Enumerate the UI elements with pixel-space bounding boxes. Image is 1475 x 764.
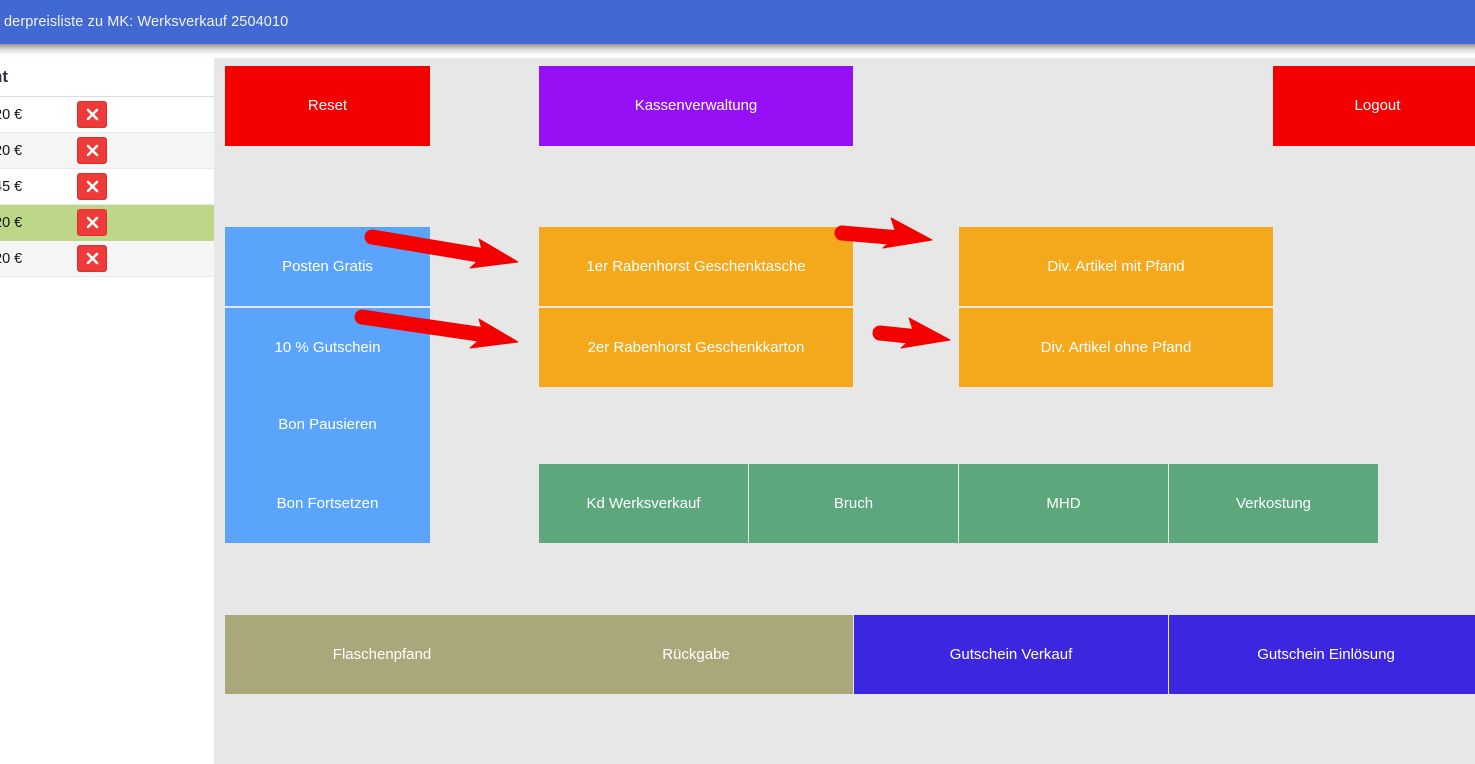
rueckgabe-button[interactable]: Rückgabe <box>539 615 853 694</box>
gutschein-verkauf-button[interactable]: Gutschein Verkauf <box>854 615 1168 694</box>
table-row-selected[interactable]: 20 € <box>0 205 214 241</box>
table-row[interactable]: 20 € <box>0 133 214 169</box>
close-x-icon <box>86 216 99 229</box>
receipt-table-body: 20 € <box>0 97 214 277</box>
close-x-icon <box>86 144 99 157</box>
row-price-cell: 20 € <box>0 241 71 277</box>
row-price: 45 € <box>0 179 22 195</box>
row-price: 20 € <box>0 251 22 267</box>
table-row[interactable]: 20 € <box>0 241 214 277</box>
main-button-panel: Reset Kassenverwaltung Logout Posten Gra… <box>214 58 1475 764</box>
bon-fortsetzen-button[interactable]: Bon Fortsetzen <box>225 464 430 543</box>
reset-button[interactable]: Reset <box>225 66 430 146</box>
posten-gratis-button[interactable]: Posten Gratis <box>225 227 430 306</box>
receipt-header-row: nt <box>0 58 214 97</box>
row-delete-cell <box>71 205 142 241</box>
receipt-sidebar: nt 20 € <box>0 58 214 764</box>
row-delete-cell <box>71 133 142 169</box>
row-price: 20 € <box>0 143 22 159</box>
mhd-button[interactable]: MHD <box>959 464 1168 543</box>
row-price: 20 € <box>0 215 22 231</box>
row-price-cell: 20 € <box>0 133 71 169</box>
table-row[interactable]: 45 € <box>0 169 214 205</box>
row-delete-cell <box>71 169 142 205</box>
row-price: 20 € <box>0 107 22 123</box>
receipt-table: nt 20 € <box>0 58 214 277</box>
delete-row-button[interactable] <box>77 137 107 164</box>
window-title: derpreisliste zu MK: Werksverkauf 250401… <box>4 14 288 30</box>
gutschein-10-prozent-button[interactable]: 10 % Gutschein <box>225 308 430 387</box>
table-row[interactable]: 20 € <box>0 97 214 133</box>
delete-row-button[interactable] <box>77 209 107 236</box>
bon-pausieren-button[interactable]: Bon Pausieren <box>225 385 430 464</box>
logout-button[interactable]: Logout <box>1273 66 1475 146</box>
pos-application-window: derpreisliste zu MK: Werksverkauf 250401… <box>0 0 1475 764</box>
rabenhorst-geschenktasche-button[interactable]: 1er Rabenhorst Geschenktasche <box>539 227 853 306</box>
delete-row-button[interactable] <box>77 101 107 128</box>
verkostung-button[interactable]: Verkostung <box>1169 464 1378 543</box>
row-spacer-cell <box>143 97 214 133</box>
bruch-button[interactable]: Bruch <box>749 464 958 543</box>
row-delete-cell <box>71 241 142 277</box>
flaschenpfand-button[interactable]: Flaschenpfand <box>225 615 539 694</box>
div-artikel-mit-pfand-button[interactable]: Div. Artikel mit Pfand <box>959 227 1273 306</box>
row-spacer-cell <box>143 241 214 277</box>
row-spacer-cell <box>143 205 214 241</box>
receipt-column-header: nt <box>0 67 206 87</box>
div-artikel-ohne-pfand-button[interactable]: Div. Artikel ohne Pfand <box>959 308 1273 387</box>
receipt-header-cell: nt <box>0 58 214 97</box>
row-price-cell: 45 € <box>0 169 71 205</box>
close-x-icon <box>86 180 99 193</box>
delete-row-button[interactable] <box>77 245 107 272</box>
row-spacer-cell <box>143 133 214 169</box>
row-price-cell: 20 € <box>0 205 71 241</box>
row-delete-cell <box>71 97 142 133</box>
kd-werksverkauf-button[interactable]: Kd Werksverkauf <box>539 464 748 543</box>
rabenhorst-geschenkkarton-button[interactable]: 2er Rabenhorst Geschenkkarton <box>539 308 853 387</box>
gutschein-einloesung-button[interactable]: Gutschein Einlösung <box>1169 615 1475 694</box>
kassenverwaltung-button[interactable]: Kassenverwaltung <box>539 66 853 146</box>
close-x-icon <box>86 108 99 121</box>
window-titlebar: derpreisliste zu MK: Werksverkauf 250401… <box>0 0 1475 44</box>
row-price-cell: 20 € <box>0 97 71 133</box>
titlebar-dropshadow <box>0 44 1475 58</box>
close-x-icon <box>86 252 99 265</box>
receipt-table-head: nt <box>0 58 214 97</box>
row-spacer-cell <box>143 169 214 205</box>
delete-row-button[interactable] <box>77 173 107 200</box>
